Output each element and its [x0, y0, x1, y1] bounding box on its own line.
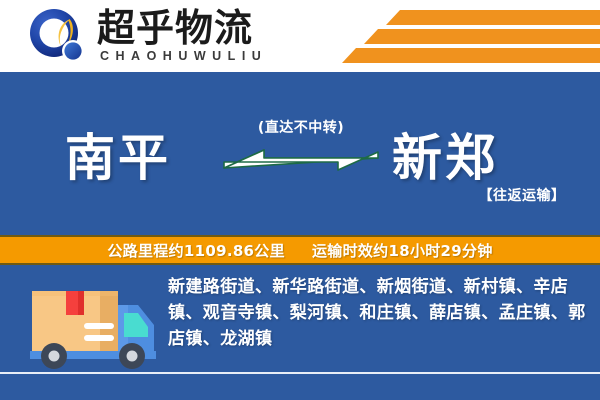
stripe-3 — [342, 48, 600, 63]
route-indicator: (直达不中转) 【往返运输】 — [222, 72, 380, 235]
info-bar-content: 公路里程约1109.86公里 运输时效约18小时29分钟 — [107, 240, 492, 261]
brand-name-cn: 超乎物流 — [97, 7, 253, 49]
stripe-1 — [386, 10, 600, 25]
duration-text: 运输时效约18小时29分钟 — [312, 242, 493, 260]
service-areas-text: 新建路街道、新华路街道、新烟街道、新村镇、辛店镇、观音寺镇、梨河镇、和庄镇、薛店… — [168, 274, 586, 352]
distance-text: 公路里程约1109.86公里 — [107, 242, 285, 260]
origin-city: 南平 — [65, 118, 171, 190]
decorative-stripes — [330, 0, 600, 72]
route-note-direct: (直达不中转) — [222, 117, 380, 137]
circle-crescent-logo-icon — [28, 8, 90, 66]
stripe-2 — [364, 29, 600, 44]
logistics-route-poster: 超乎物流 CHAOHUWULIU 南平 (直达不中转) 【往返运输】 新郑 公路… — [0, 0, 600, 400]
destination-city: 新郑 — [392, 118, 498, 190]
brand-name-en: CHAOHUWULIU — [100, 49, 267, 63]
bidirectional-arrow-icon — [222, 142, 380, 178]
transport-info-bar: 公路里程约1109.86公里 运输时效约18小时29分钟 — [0, 235, 600, 265]
poster-header: 超乎物流 CHAOHUWULIU — [0, 0, 600, 72]
route-banner: 南平 (直达不中转) 【往返运输】 新郑 — [0, 72, 600, 235]
delivery-truck-icon — [22, 275, 162, 375]
